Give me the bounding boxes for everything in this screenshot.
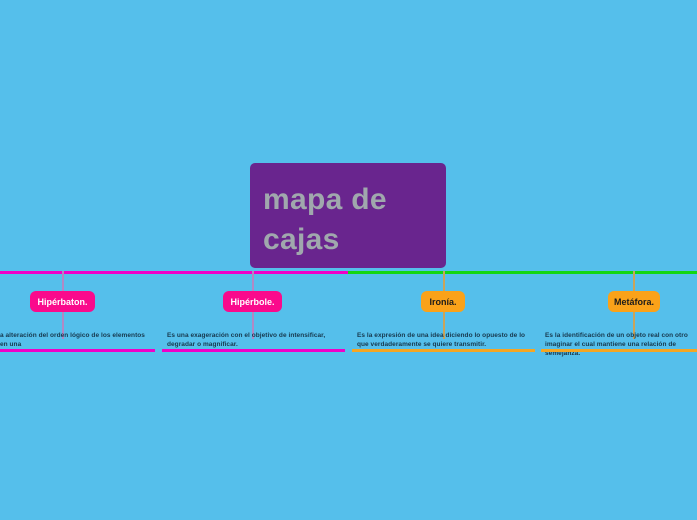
branch-label-metafora: Metáfora. [614,297,654,307]
branch-label-ironia: Ironía. [430,297,457,307]
mindmap-canvas: mapa de cajas Hipérbaton. a alteración d… [0,0,697,520]
underline-ironia [352,349,535,352]
branch-label-hiperbole: Hipérbole. [231,297,275,307]
underline-hiperbole [162,349,345,352]
branch-node-hiperbaton[interactable]: Hipérbaton. [30,291,95,312]
branch-description-hiperbaton: a alteración del orden lógico de los ele… [0,332,152,350]
trunk-line-right [348,271,697,274]
branch-label-hiperbaton: Hipérbaton. [38,297,88,307]
underline-metafora [541,349,697,352]
branch-description-ironia: Es la expresión de una idea diciendo lo … [357,332,529,350]
branch-description-metafora: Es la identificación de un objeto real c… [545,332,697,359]
trunk-line-left [0,271,349,274]
branch-node-hiperbole[interactable]: Hipérbole. [223,291,282,312]
branch-description-hiperbole: Es una exageración con el objetivo de in… [167,332,339,350]
branch-node-ironia[interactable]: Ironía. [421,291,465,312]
root-node-title: mapa de cajas [263,180,433,260]
branch-node-metafora[interactable]: Metáfora. [608,291,660,312]
root-node[interactable]: mapa de cajas [250,163,446,268]
underline-hiperbaton [0,349,155,352]
